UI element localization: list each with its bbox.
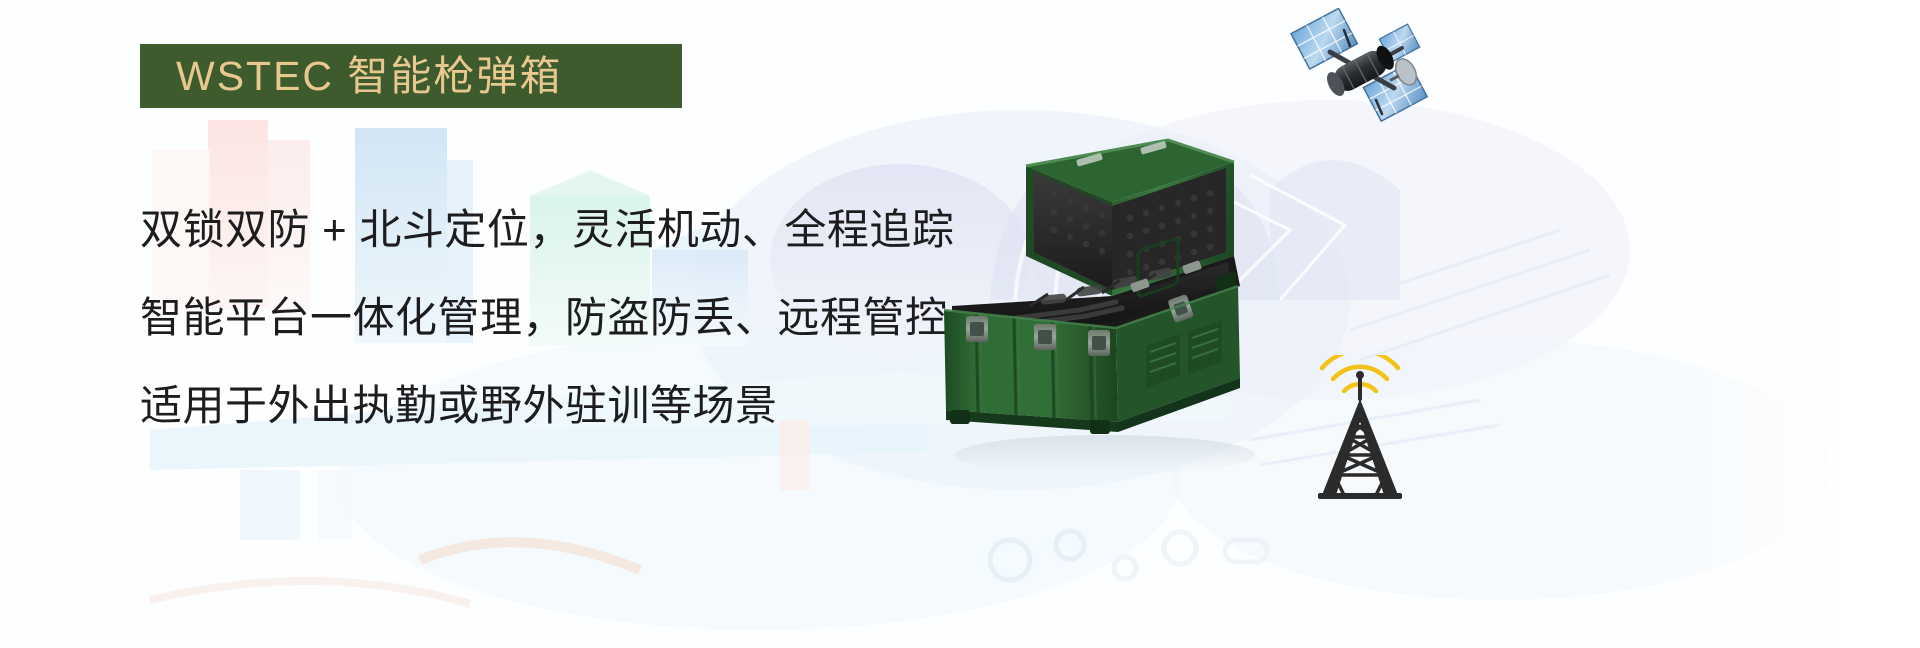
promo-banner: WSTEC 智能枪弹箱 双锁双防 + 北斗定位，灵活机动、全程追踪 智能平台一体… <box>0 0 1920 648</box>
radio-tower-icon <box>1300 355 1420 500</box>
feature-line-2: 智能平台一体化管理，防盗防丢、远程管控 <box>140 274 1040 362</box>
satellite-icon <box>1290 8 1430 128</box>
feature-line-3: 适用于外出执勤或野外驻训等场景 <box>140 362 1040 450</box>
page-title: WSTEC 智能枪弹箱 <box>176 56 562 97</box>
title-bar: WSTEC 智能枪弹箱 <box>140 44 682 108</box>
feature-list: 双锁双防 + 北斗定位，灵活机动、全程追踪 智能平台一体化管理，防盗防丢、远程管… <box>140 186 1040 450</box>
feature-line-1: 双锁双防 + 北斗定位，灵活机动、全程追踪 <box>140 186 1040 274</box>
product-image-equipment-case <box>930 110 1270 480</box>
